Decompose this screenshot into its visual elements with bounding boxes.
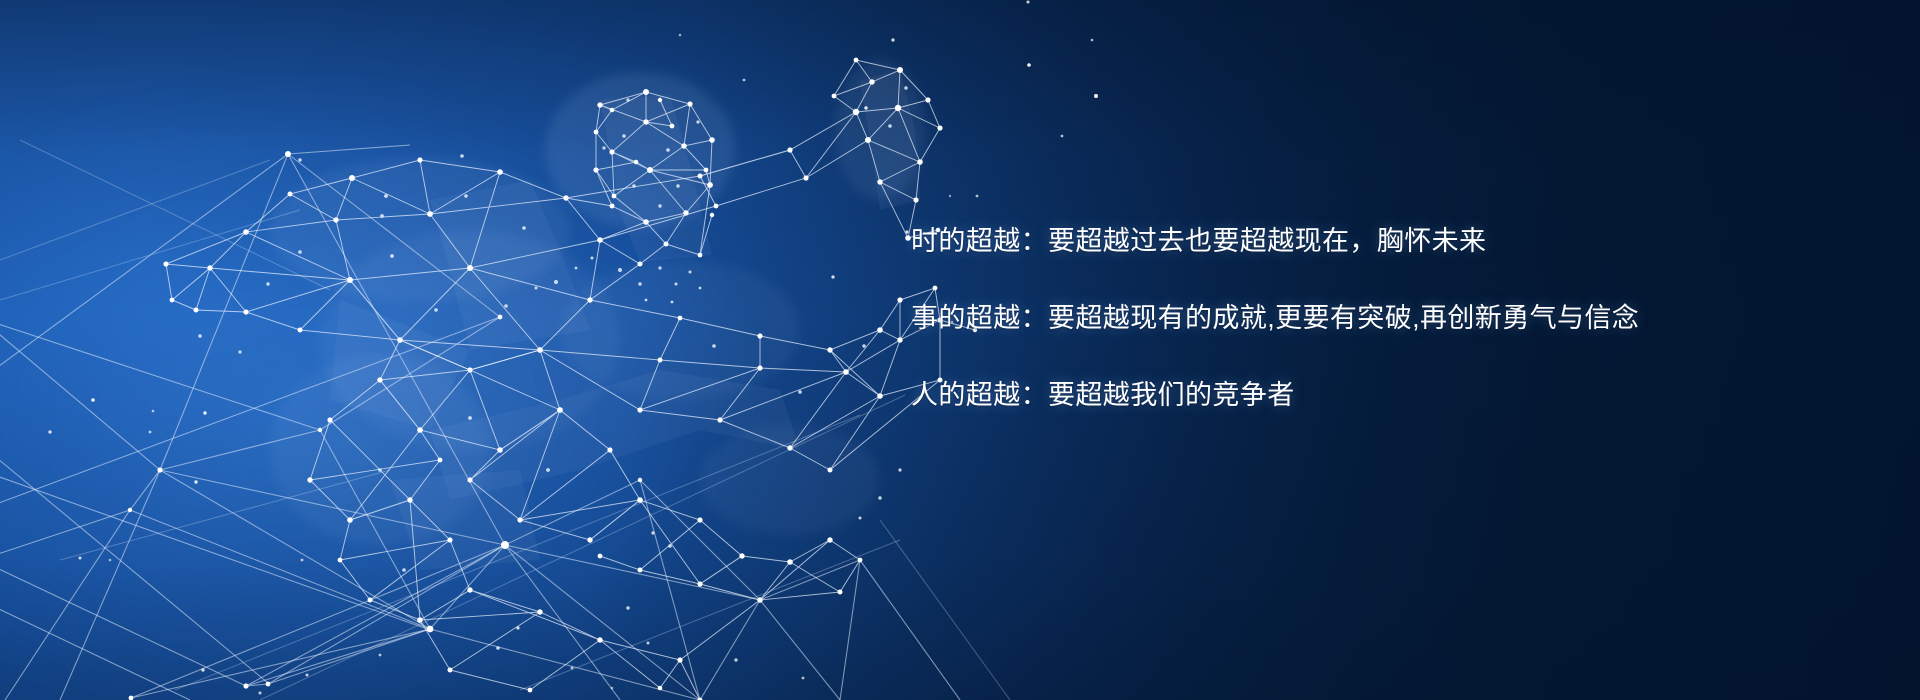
tagline-time: 时的超越：要超越过去也要超越现在，胸怀未来 <box>911 228 1811 255</box>
taglines-block: 时的超越：要超越过去也要超越现在，胸怀未来 事的超越：要超越现有的成就,更要有突… <box>911 228 1811 409</box>
hero-banner: 时的超越：要超越过去也要超越现在，胸怀未来 事的超越：要超越现有的成就,更要有突… <box>0 0 1920 700</box>
tagline-people: 人的超越：要超越我们的竞争者 <box>911 382 1811 409</box>
tagline-matter: 事的超越：要超越现有的成就,更要有突破,再创新勇气与信念 <box>911 305 1811 332</box>
